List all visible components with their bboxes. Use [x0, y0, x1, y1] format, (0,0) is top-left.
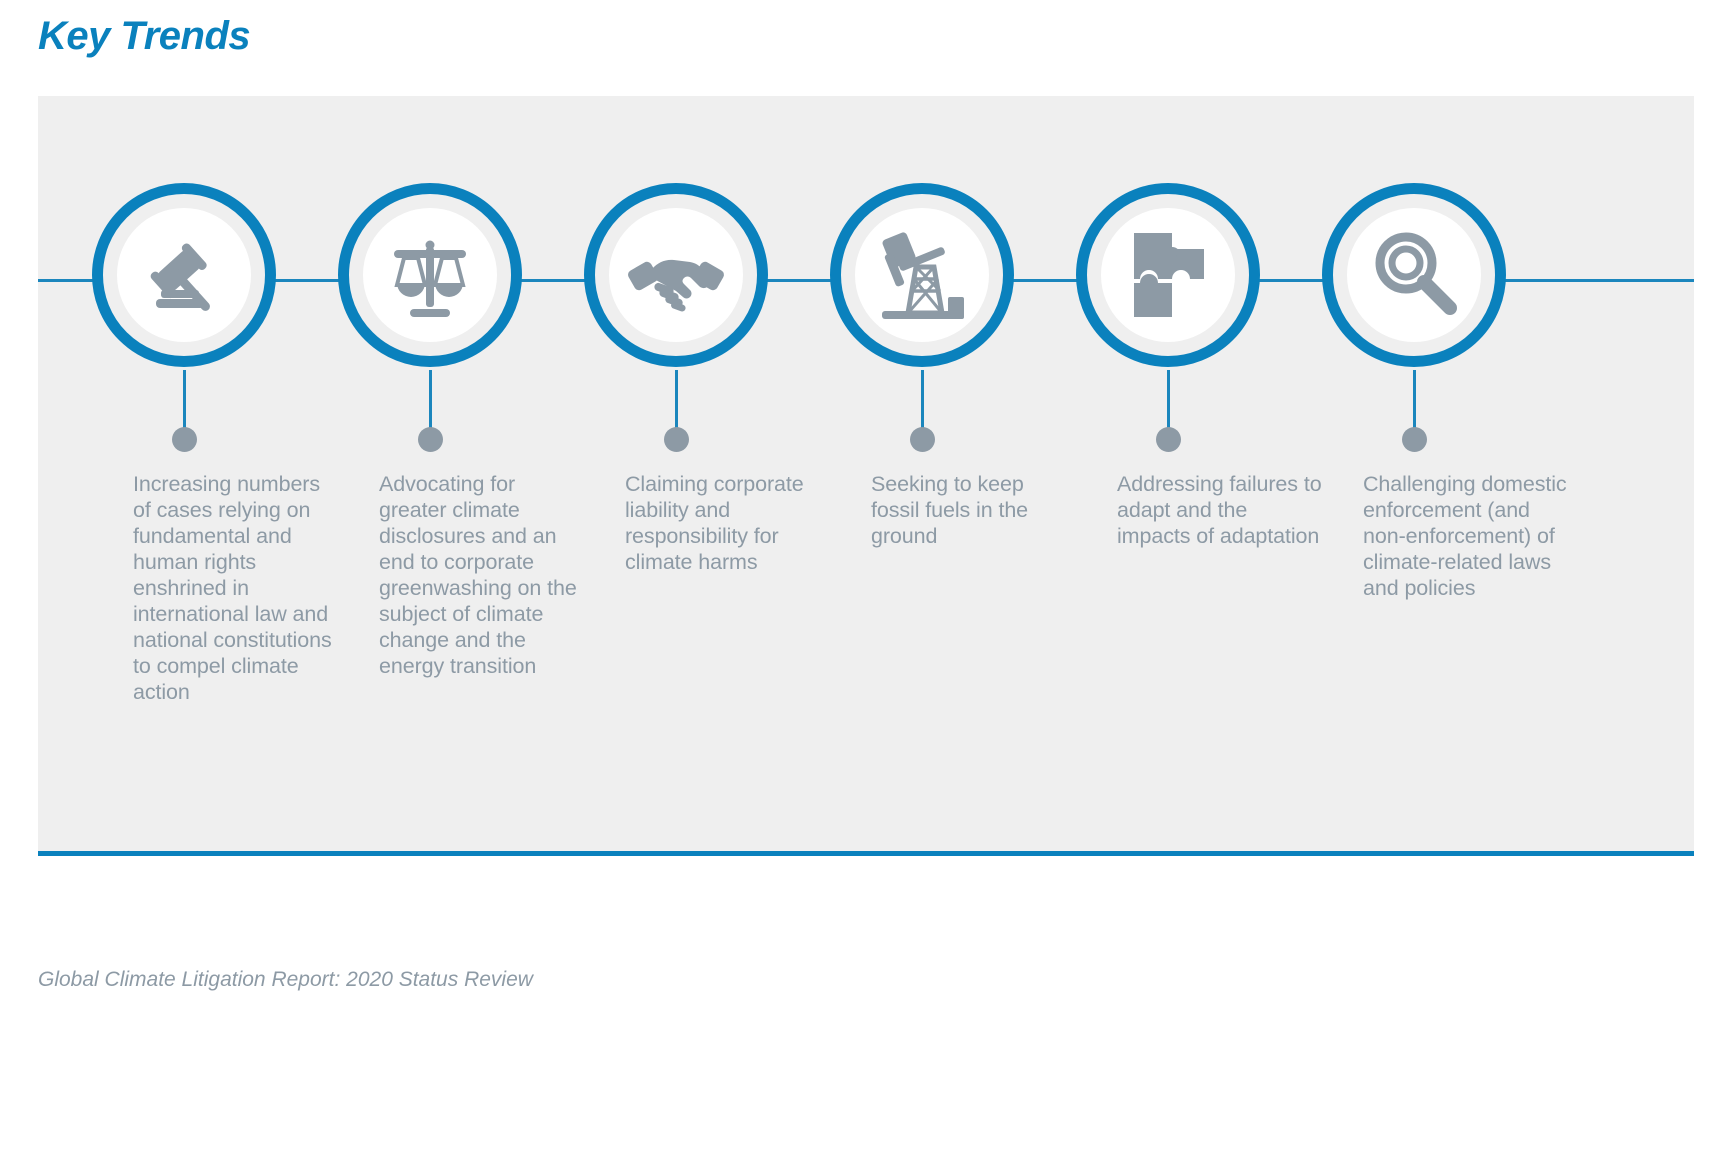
- puzzle-pieces-icon: [1101, 208, 1235, 342]
- trend-node-4[interactable]: Seeking to keep fossil fuels in the grou…: [818, 96, 1064, 856]
- trend-dot-6: [1402, 427, 1427, 452]
- balance-scales-icon: [363, 208, 497, 342]
- page-title: Key Trends: [38, 14, 250, 59]
- trend-node-5[interactable]: Addressing failures to adapt and the imp…: [1064, 96, 1310, 856]
- trend-icon-ring-3: [584, 183, 768, 367]
- trend-caption-2: Advocating for greater climate disclosur…: [379, 471, 585, 679]
- trend-caption-4: Seeking to keep fossil fuels in the grou…: [871, 471, 1077, 549]
- oil-pumpjack-icon: [855, 208, 989, 342]
- trend-icon-ring-2: [338, 183, 522, 367]
- trend-node-3[interactable]: Claiming corporate liability and respons…: [572, 96, 818, 856]
- magnifying-glass-icon: [1347, 208, 1481, 342]
- panel-bottom-rule: [38, 851, 1694, 856]
- trend-node-1[interactable]: Increasing numbers of cases relying on f…: [80, 96, 326, 856]
- trend-icon-ring-4: [830, 183, 1014, 367]
- trend-caption-3: Claiming corporate liability and respons…: [625, 471, 831, 575]
- trend-caption-5: Addressing failures to adapt and the imp…: [1117, 471, 1323, 549]
- trend-icon-ring-1: [92, 183, 276, 367]
- trend-icon-ring-6: [1322, 183, 1506, 367]
- trend-node-6[interactable]: Challenging domestic enforcement (and no…: [1310, 96, 1556, 856]
- trend-dot-3: [664, 427, 689, 452]
- trend-dot-4: [910, 427, 935, 452]
- trend-icon-ring-5: [1076, 183, 1260, 367]
- trend-dot-1: [172, 427, 197, 452]
- trend-dot-2: [418, 427, 443, 452]
- trend-caption-1: Increasing numbers of cases relying on f…: [133, 471, 333, 705]
- trend-dot-5: [1156, 427, 1181, 452]
- trend-node-list: Increasing numbers of cases relying on f…: [38, 96, 1694, 856]
- footer-source-note: Global Climate Litigation Report: 2020 S…: [38, 968, 533, 992]
- handshake-icon: [609, 208, 743, 342]
- gavel-icon: [117, 208, 251, 342]
- trend-node-2[interactable]: Advocating for greater climate disclosur…: [326, 96, 572, 856]
- trend-caption-6: Challenging domestic enforcement (and no…: [1363, 471, 1569, 601]
